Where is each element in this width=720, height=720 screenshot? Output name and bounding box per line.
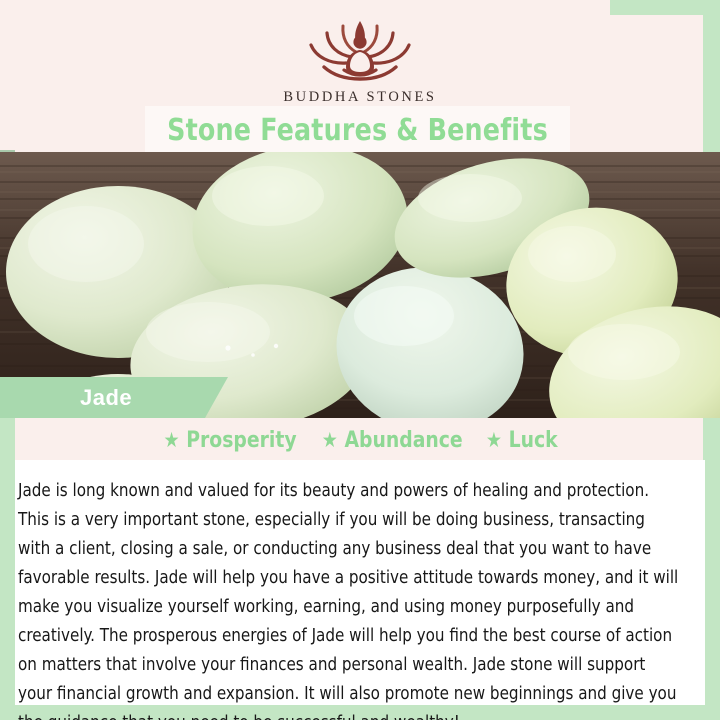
infographic-card: BUDDHA STONES Stone Features & Benefits <box>0 0 720 720</box>
star-icon: ★ <box>486 430 502 451</box>
title-banner: Stone Features & Benefits <box>145 106 570 154</box>
brand-wordmark: BUDDHA STONES <box>0 89 720 106</box>
description-panel: Jade is long known and valued for its be… <box>15 460 705 705</box>
keyword-row: ★ Prosperity ★ Abundance ★ Luck <box>0 428 720 453</box>
description-text: Jade is long known and valued for its be… <box>18 477 681 720</box>
page-title: Stone Features & Benefits <box>167 113 548 148</box>
lotus-meditation-figure-icon <box>294 14 426 86</box>
brand-logo: BUDDHA STONES <box>0 14 720 106</box>
star-icon: ★ <box>322 430 338 451</box>
keyword-label: Prosperity <box>186 428 296 453</box>
star-icon: ★ <box>163 430 179 451</box>
keyword-label: Abundance <box>345 428 463 453</box>
keyword-label: Luck <box>509 428 558 453</box>
keyword-luck: ★ Luck <box>486 428 558 453</box>
stone-name: Jade <box>80 385 132 411</box>
keyword-prosperity: ★ Prosperity <box>163 428 296 453</box>
stone-name-banner: Jade <box>0 377 228 418</box>
keyword-abundance: ★ Abundance <box>322 428 463 453</box>
